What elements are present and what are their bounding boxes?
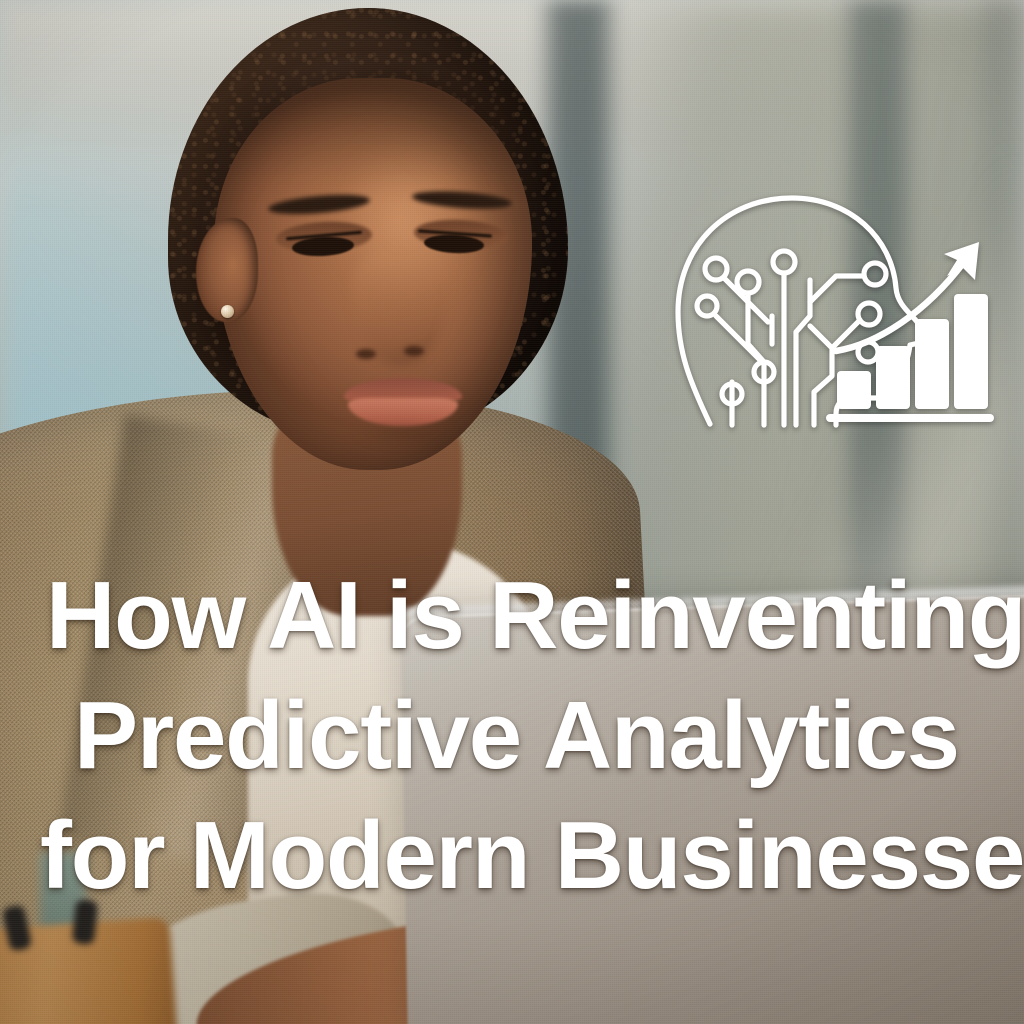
pearl-earring [221, 305, 234, 318]
nostril-left [356, 349, 376, 359]
nostril-right [404, 346, 424, 356]
hero-graphic-canvas: How AI is Reinventing Predictive Analyti… [0, 0, 1024, 1024]
bar-3 [915, 319, 949, 409]
headline-line-3: for Modern Businesses [46, 796, 1018, 916]
headline-line-1: How AI is Reinventing [46, 556, 1018, 676]
bar-1 [837, 371, 871, 409]
headline-line-2: Predictive Analytics [46, 676, 1018, 796]
bar-2 [876, 346, 910, 409]
chin-shadow [330, 428, 480, 476]
trend-arrow-head [944, 242, 979, 280]
ai-head-growth-chart-icon [664, 176, 994, 428]
bar-4 [954, 294, 988, 409]
page-title: How AI is Reinventing Predictive Analyti… [46, 556, 1018, 916]
